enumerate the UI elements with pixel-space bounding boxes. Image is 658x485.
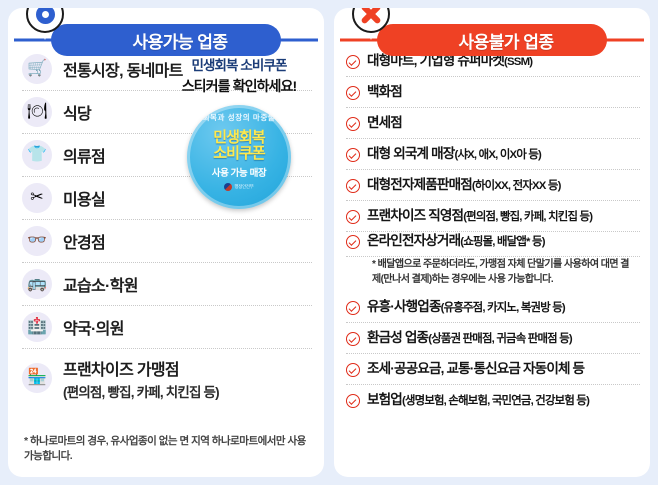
sticker-arc-text: 회복과 성장의 마중물	[187, 112, 291, 123]
list-item-paren: (편의점, 빵집, 카페, 치킨집 등)	[463, 211, 592, 223]
clothes-hanger-icon: 👕	[22, 140, 52, 170]
list-item-label: 안경점	[63, 229, 105, 253]
list-item-label: 유흥·사행업종(유흥주점, 카지노, 복권방 등)	[367, 299, 565, 316]
list-item-label: 의류점	[63, 143, 105, 167]
pin-bubble	[352, 8, 390, 33]
blocked-businesses-panel: 사용불가 업종 대형마트, 기업형 슈퍼마켓(SSM) 백화점 면세점	[334, 8, 650, 477]
list-item-paren: (쇼핑몰, 배달앱* 등)	[460, 236, 544, 248]
list-item-label: 대형 외국계 매장(샤X, 애X, 이X아 등)	[367, 146, 541, 163]
list-item: 대형 외국계 매장(샤X, 애X, 이X아 등)	[346, 139, 640, 170]
allowed-businesses-panel: 사용가능 업종 🛒 전통시장, 동네마트 🍽 식당 👕 의류점 ✂	[8, 8, 324, 477]
emblem-shape	[224, 183, 232, 191]
list-item-paren: (생명보험, 손해보험, 국민연금, 건강보험 등)	[402, 395, 589, 407]
check-circle-icon	[346, 332, 360, 346]
coupon-sticker-badge: 회복과 성장의 마중물 민생회복 소비쿠폰 사용 가능 매장 행정안전부	[187, 105, 291, 209]
check-circle-icon	[346, 235, 360, 249]
shopping-cart-icon: 🛒	[22, 54, 52, 84]
list-item-label: 식당	[63, 100, 91, 124]
list-item-label: 환금성 업종(상품권 판매점, 귀금속 판매점 등)	[367, 330, 572, 347]
emblem-label: 행정안전부	[234, 184, 253, 190]
sticker-title-line-1: 민생회복	[213, 130, 265, 146]
check-circle-icon	[346, 117, 360, 131]
check-circle-icon	[346, 86, 360, 100]
blocked-header-title: 사용불가 업종	[458, 28, 553, 53]
school-bus-icon: 🚌	[22, 269, 52, 299]
allowed-header-title: 사용가능 업종	[132, 28, 227, 53]
eyeglasses-chart-icon: 👓	[22, 226, 52, 256]
list-item-paren: (상품권 판매점, 귀금속 판매점 등)	[428, 333, 572, 345]
list-item: 🏪 프랜차이즈 가맹점 (편의점, 빵집, 카페, 치킨집 등)	[22, 349, 312, 407]
check-circle-icon	[346, 301, 360, 315]
list-item: 온라인전자상거래(쇼핑몰, 배달앱* 등)	[346, 232, 640, 257]
list-item-label: 대형전자제품판매점(하이XX, 전자XX 등)	[367, 177, 561, 194]
check-circle-icon	[346, 210, 360, 224]
list-item: 대형전자제품판매점(하이XX, 전자XX 등)	[346, 170, 640, 201]
check-circle-icon	[346, 148, 360, 162]
allowed-header-pill: 사용가능 업종	[51, 24, 281, 56]
list-item-label: 면세점	[367, 115, 402, 132]
blocked-list: 대형마트, 기업형 슈퍼마켓(SSM) 백화점 면세점 대형 외국계 매장(샤X…	[334, 42, 650, 415]
list-item: 🚌 교습소·학원	[22, 263, 312, 306]
list-item: 백화점	[346, 77, 640, 108]
list-item-label: 프랜차이즈 직영점(편의점, 빵집, 카페, 치킨집 등)	[367, 208, 592, 225]
list-item-paren: (SSM)	[504, 56, 532, 68]
sticker-promo: 민생회복 소비쿠폰 스티커를 확인하세요! 회복과 성장의 마중물 민생회복 소…	[160, 54, 318, 209]
restaurant-plate-icon: 🍽	[22, 97, 52, 127]
list-item: 보험업(생명보험, 손해보험, 국민연금, 건강보험 등)	[346, 385, 640, 415]
list-item-paren: (하이XX, 전자XX 등)	[472, 180, 561, 192]
list-item-paren: (유흥주점, 카지노, 복권방 등)	[441, 302, 565, 314]
list-item: 조세·공공요금, 교통·통신요금 자동이체 등	[346, 354, 640, 385]
check-circle-icon	[346, 363, 360, 377]
infographic-board: 사용가능 업종 🛒 전통시장, 동네마트 🍽 식당 👕 의류점 ✂	[0, 0, 658, 485]
list-item: 프랜차이즈 직영점(편의점, 빵집, 카페, 치킨집 등)	[346, 201, 640, 232]
list-item: 🏥 약국·의원	[22, 306, 312, 349]
list-item: 👓 안경점	[22, 220, 312, 263]
pin-ring-shape	[36, 8, 55, 24]
list-item-label: 미용실	[63, 186, 105, 210]
scissors-comb-icon: ✂	[22, 183, 52, 213]
allowed-footnote: * 하나로마트의 경우, 유사업종이 없는 면 지역 하나로마트에서만 사용 가…	[24, 434, 312, 466]
list-item-label: 보험업(생명보험, 손해보험, 국민연금, 건강보험 등)	[367, 392, 589, 409]
check-circle-icon	[346, 179, 360, 193]
list-item-paren: (샤X, 애X, 이X아 등)	[454, 149, 541, 161]
check-circle-icon	[346, 55, 360, 69]
sticker-title-line-2: 소비쿠폰	[213, 146, 265, 162]
hospital-building-icon: 🏥	[22, 312, 52, 342]
x-mark-circle-icon	[352, 8, 390, 33]
government-emblem-icon: 행정안전부	[224, 183, 253, 191]
sticker-subtitle: 사용 가능 매장	[212, 165, 267, 179]
promo-line-2: 스티커를 확인하세요!	[160, 76, 318, 96]
blocked-subnote: * 배달앱으로 주문하더라도, 가맹점 자체 단말기를 사용하여 대면 결제(만…	[346, 257, 640, 292]
list-item: 유흥·사행업종(유흥주점, 카지노, 복권방 등)	[346, 292, 640, 323]
list-item-label: 온라인전자상거래(쇼핑몰, 배달앱* 등)	[367, 233, 545, 250]
storefront-bakery-icon: 🏪	[22, 363, 52, 393]
check-circle-icon	[346, 394, 360, 408]
list-item: 면세점	[346, 108, 640, 139]
promo-line-1: 민생회복 소비쿠폰	[160, 54, 318, 74]
blocked-header-pill: 사용불가 업종	[377, 24, 607, 56]
location-pin-circle-icon	[26, 8, 64, 33]
list-item: 환금성 업종(상품권 판매점, 귀금속 판매점 등)	[346, 323, 640, 354]
list-item-label: 백화점	[367, 84, 402, 101]
list-item-label: 교습소·학원	[63, 272, 138, 296]
x-shape	[360, 8, 382, 25]
list-item-label: 프랜차이즈 가맹점 (편의점, 빵집, 카페, 치킨집 등)	[63, 356, 219, 401]
list-item-label: 조세·공공요금, 교통·통신요금 자동이체 등	[367, 361, 584, 378]
pin-bubble	[26, 8, 64, 33]
list-item-label: 약국·의원	[63, 315, 124, 339]
list-item-sublabel: (편의점, 빵집, 카페, 치킨집 등)	[63, 381, 219, 401]
